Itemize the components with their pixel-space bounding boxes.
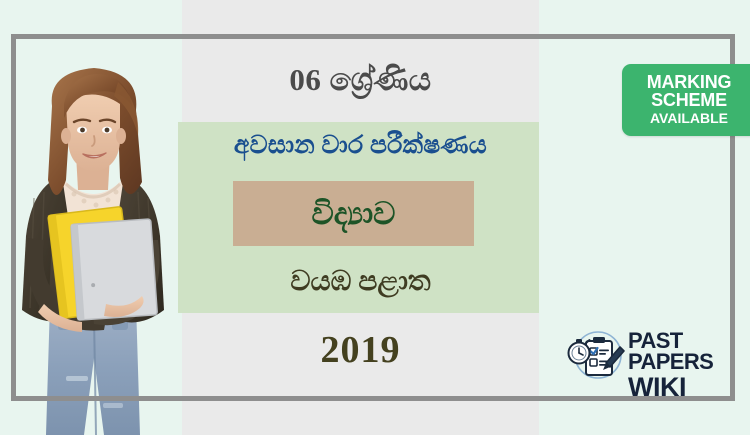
badge-line-1: MARKING bbox=[632, 73, 746, 91]
province-label: වයඹ පළාත bbox=[182, 266, 539, 298]
poster-text-stack: 06 ශ්‍රේණිය අවසාන වාර පරීක්ෂණය විද්‍යාව … bbox=[182, 0, 539, 435]
clipboard-stopwatch-pen-icon bbox=[566, 327, 626, 385]
badge-line-2: SCHEME bbox=[632, 91, 746, 109]
subject-label: විද්‍යාව bbox=[233, 181, 474, 246]
exam-paper-thumbnail: 06 ශ්‍රේණිය අවසාන වාර පරීක්ෂණය විද්‍යාව … bbox=[0, 0, 750, 435]
past-papers-wiki-logo[interactable]: PAST PAPERS WIKI bbox=[566, 327, 732, 389]
subject-box: විද්‍යාව bbox=[233, 181, 474, 246]
badge-line-3: AVAILABLE bbox=[632, 111, 746, 125]
exam-name-label: අවසාන වාර පරීක්ෂණය bbox=[182, 132, 539, 160]
student-photo bbox=[8, 58, 180, 435]
marking-scheme-badge[interactable]: MARKING SCHEME AVAILABLE bbox=[622, 64, 750, 136]
logo-wordmark: PAST PAPERS WIKI bbox=[628, 331, 732, 400]
logo-line-1: PAST PAPERS bbox=[628, 331, 732, 373]
grade-label: 06 ශ්‍රේණිය bbox=[182, 62, 539, 99]
year-label: 2019 bbox=[182, 328, 539, 372]
logo-line-2: WIKI bbox=[628, 375, 732, 401]
